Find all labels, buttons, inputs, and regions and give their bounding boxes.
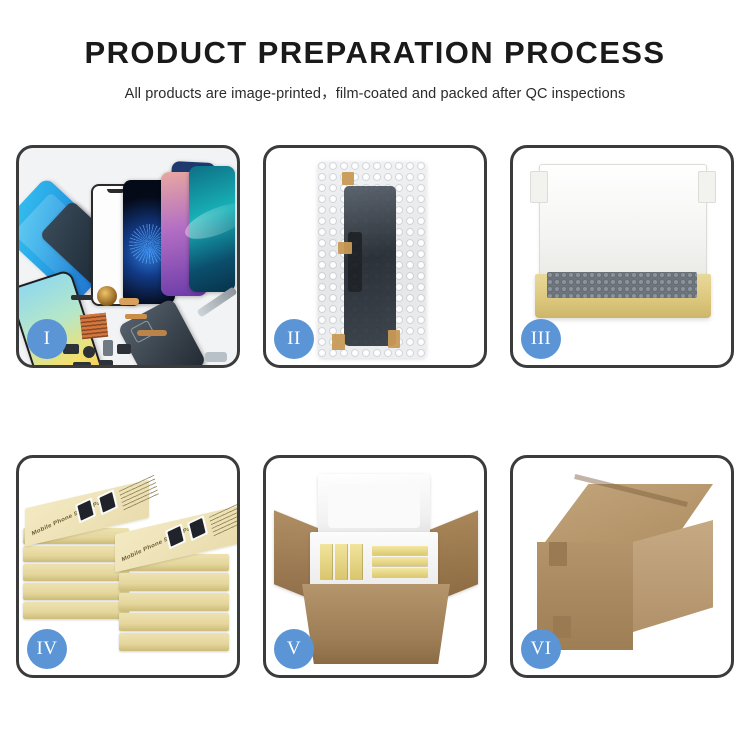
step-badge-5: V xyxy=(274,629,314,669)
long-flex-part xyxy=(137,330,167,336)
header: PRODUCT PREPARATION PROCESS All products… xyxy=(0,0,750,103)
step-panel-3[interactable]: III xyxy=(510,145,734,368)
antenna-part xyxy=(73,362,91,365)
connector-part xyxy=(119,298,139,305)
yellow-box xyxy=(350,544,363,580)
step-panel-1[interactable]: I xyxy=(16,145,240,368)
bubble-wrap-bag xyxy=(318,162,426,358)
yellow-box-flat xyxy=(372,557,428,566)
tape-strip xyxy=(342,172,354,185)
step-badge-6: VI xyxy=(521,629,561,669)
step-panel-2[interactable]: II xyxy=(263,145,487,368)
phone-screen-teal xyxy=(189,166,235,292)
box-window xyxy=(97,489,118,515)
tape-strip xyxy=(388,330,400,348)
stacked-box xyxy=(23,546,129,562)
ribbon-cable-part xyxy=(125,314,147,319)
box-window xyxy=(187,515,208,541)
foam-insert xyxy=(547,272,697,298)
foam-box-lid xyxy=(318,474,430,536)
product-preparation-infographic: PRODUCT PREPARATION PROCESS All products… xyxy=(0,0,750,750)
process-steps-grid: I II III xyxy=(16,145,734,705)
stacked-box xyxy=(119,613,229,631)
carton-tab xyxy=(549,542,567,566)
wrapped-screen xyxy=(344,186,396,346)
stacked-box xyxy=(23,602,129,619)
box-spec-lines xyxy=(119,475,159,511)
step-badge-4: IV xyxy=(27,629,67,669)
copper-mesh-part xyxy=(80,313,108,340)
stacked-box xyxy=(23,564,129,581)
yellow-box-flat xyxy=(372,568,428,577)
foam-box-body xyxy=(310,532,438,590)
yellow-box xyxy=(335,544,348,580)
step-badge-3: III xyxy=(521,319,561,359)
box-window xyxy=(165,523,186,549)
box-lid xyxy=(539,164,707,282)
page-subtitle: All products are image-printed，film-coat… xyxy=(0,82,750,103)
stacked-box xyxy=(119,593,229,611)
vibrator-part xyxy=(117,344,131,354)
yellow-box xyxy=(320,544,333,580)
yellow-box-flat xyxy=(372,546,428,555)
page-title: PRODUCT PREPARATION PROCESS xyxy=(0,36,750,70)
step-badge-2: II xyxy=(274,319,314,359)
speaker-part xyxy=(97,286,117,306)
stacked-box xyxy=(119,633,229,651)
button-part xyxy=(99,360,113,365)
stacked-box xyxy=(23,583,129,600)
box-spec-lines xyxy=(209,501,237,537)
box-tray xyxy=(535,274,711,318)
flex-cable-part xyxy=(71,295,93,300)
carton-body xyxy=(302,584,450,664)
tape-strip xyxy=(338,242,352,254)
screw-set-part xyxy=(205,352,227,362)
tape-strip xyxy=(332,334,345,350)
step-badge-1: I xyxy=(27,319,67,359)
box-window xyxy=(75,497,96,523)
step-panel-5[interactable]: V xyxy=(263,455,487,678)
camera-lens-part xyxy=(83,346,95,358)
step-panel-6[interactable]: VI xyxy=(510,455,734,678)
step-panel-4[interactable]: Mobile Phone Spare Parts Mobile Phone Sp… xyxy=(16,455,240,678)
stacked-box xyxy=(119,573,229,591)
battery-connector-part xyxy=(103,340,113,356)
